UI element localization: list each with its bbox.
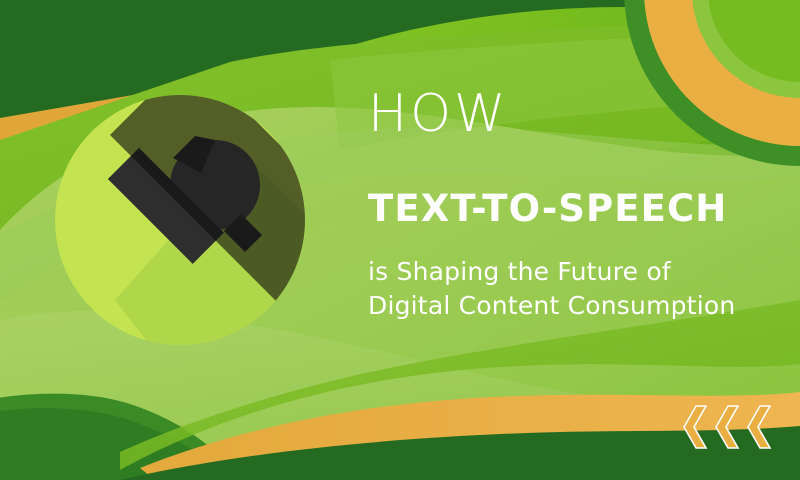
- chevron-2: [716, 406, 738, 448]
- banner-canvas: HOW TEXT-TO-SPEECH is Shaping the Future…: [0, 0, 800, 480]
- subheadline-line-2: Digital Content Consumption: [368, 289, 788, 323]
- microphone-icon: [55, 95, 305, 345]
- headline-how: HOW: [368, 88, 788, 140]
- subheadline: is Shaping the Future of Digital Content…: [368, 255, 788, 323]
- subheadline-line-1: is Shaping the Future of: [368, 255, 788, 289]
- chevron-3: [748, 406, 770, 448]
- headline-text-to-speech: TEXT-TO-SPEECH: [368, 190, 788, 227]
- microphone-badge: [55, 95, 305, 345]
- chevron-1: [684, 406, 706, 448]
- headline-block: HOW TEXT-TO-SPEECH is Shaping the Future…: [368, 88, 788, 323]
- chevron-left-triple-icon: [683, 404, 775, 450]
